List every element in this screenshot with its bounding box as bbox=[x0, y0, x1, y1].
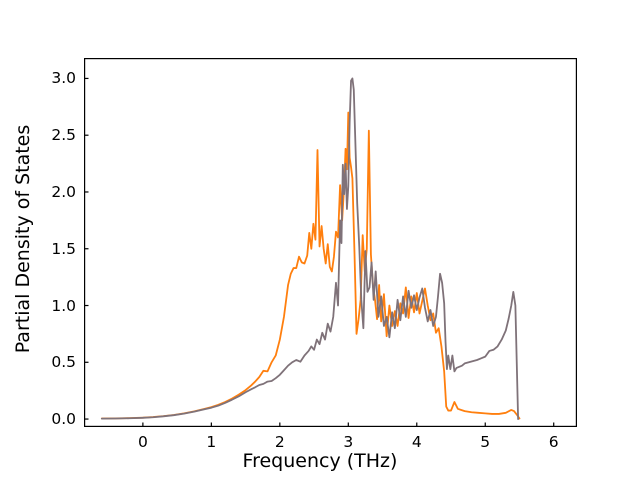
x-tick-label-1: 1 bbox=[206, 433, 216, 451]
x-axis-label: Frequency (THz) bbox=[0, 450, 640, 472]
y-tick-label-6: 3.0 bbox=[36, 69, 76, 87]
x-tick-label-0: 0 bbox=[138, 433, 148, 451]
plot-area bbox=[84, 58, 577, 427]
y-axis-label-wrap: Partial Density of States bbox=[0, 0, 34, 480]
y-tick-label-0: 0.0 bbox=[36, 410, 76, 428]
x-tick-label-5: 5 bbox=[480, 433, 490, 451]
y-tick-label-5: 2.5 bbox=[36, 126, 76, 144]
plot-svg bbox=[84, 58, 577, 427]
x-tick-label-6: 6 bbox=[549, 433, 559, 451]
y-tick-label-3: 1.5 bbox=[36, 240, 76, 258]
x-tick-label-2: 2 bbox=[275, 433, 285, 451]
y-tick-label-1: 0.5 bbox=[36, 353, 76, 371]
x-tick-label-3: 3 bbox=[343, 433, 353, 451]
y-tick-label-2: 1.0 bbox=[36, 297, 76, 315]
y-tick-label-4: 2.0 bbox=[36, 183, 76, 201]
x-tick-label-4: 4 bbox=[412, 433, 422, 451]
axes-frame bbox=[85, 59, 577, 427]
y-axis-label: Partial Density of States bbox=[12, 29, 34, 449]
figure-canvas: 0123456 0.00.51.01.52.02.53.0 Frequency … bbox=[0, 0, 640, 480]
